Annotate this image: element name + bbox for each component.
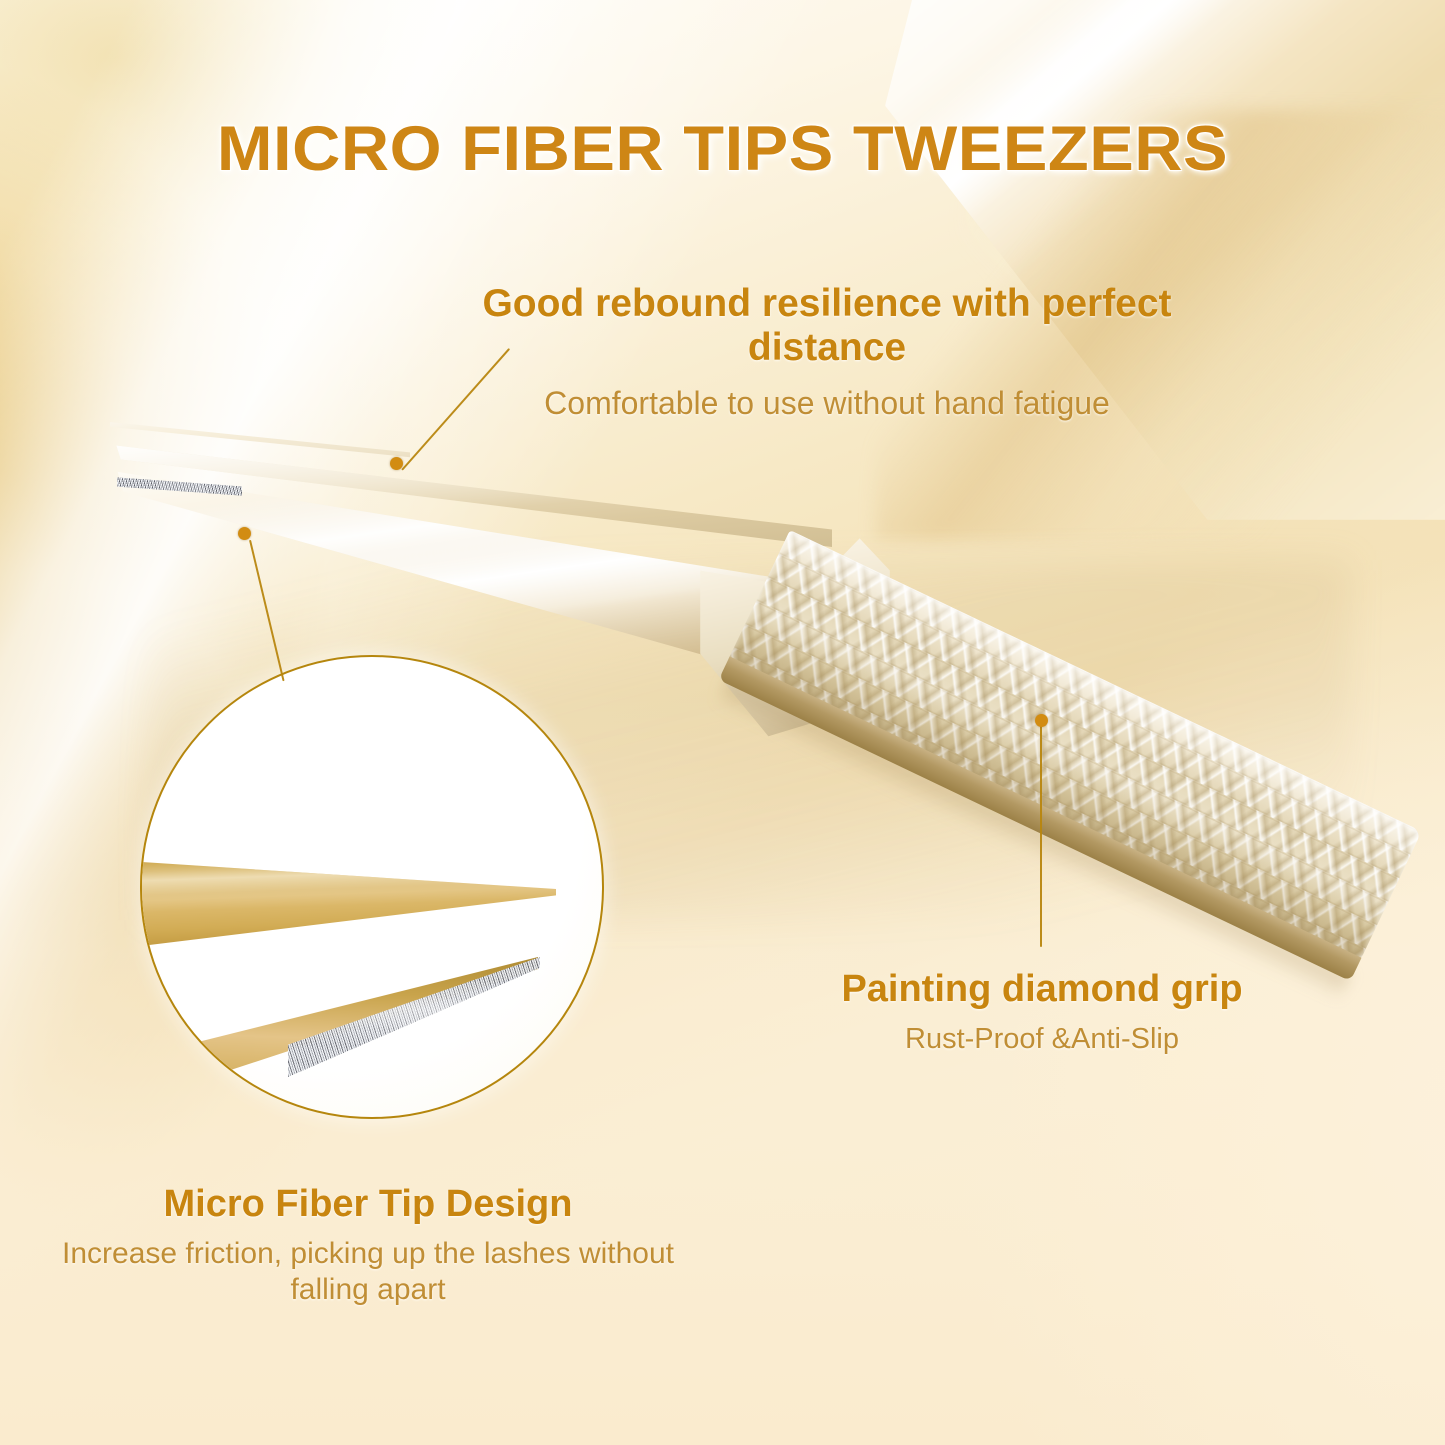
product-infographic: MICRO FIBER TIPS TWEEZERS Good rebound r…: [0, 0, 1445, 1445]
callout-rebound: Good rebound resilience with perfect dis…: [418, 282, 1236, 422]
callout-tip: Micro Fiber Tip Design Increase friction…: [28, 1183, 708, 1308]
callout-rebound-subtext: Comfortable to use without hand fatigue: [418, 384, 1236, 422]
callout-grip-subtext: Rust-Proof &Anti-Slip: [712, 1022, 1372, 1057]
callout-grip-heading: Painting diamond grip: [712, 968, 1372, 1011]
callout-rebound-heading: Good rebound resilience with perfect dis…: [418, 282, 1236, 371]
callout-tip-subtext: Increase friction, picking up the lashes…: [28, 1236, 708, 1308]
leader-dot-tip: [238, 527, 251, 540]
callout-grip: Painting diamond grip Rust-Proof &Anti-S…: [712, 968, 1372, 1057]
page-title: MICRO FIBER TIPS TWEEZERS: [0, 113, 1445, 185]
callout-tip-heading: Micro Fiber Tip Design: [28, 1183, 708, 1226]
silk-fabric-fold: [885, 0, 1445, 520]
magnifier-circle-inset: [140, 655, 604, 1119]
leader-dot-grip: [1035, 714, 1048, 727]
leader-dot-rebound: [390, 457, 403, 470]
leader-line-grip: [1040, 721, 1042, 947]
magnified-upper-tip-highlight: [140, 825, 556, 953]
